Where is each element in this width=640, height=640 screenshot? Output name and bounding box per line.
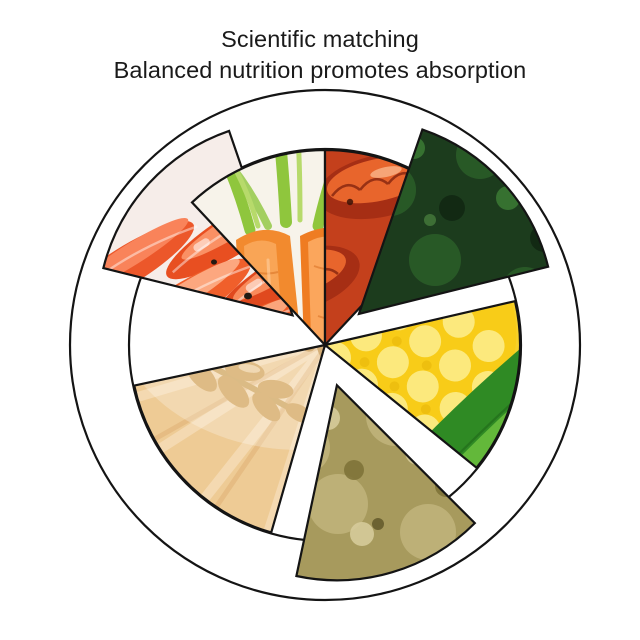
pie-slice-group (103, 130, 548, 581)
ingredient-wheel-chart (0, 0, 640, 640)
poster-canvas: Scientific matching Balanced nutrition p… (0, 0, 640, 640)
pie-slice-wheat[interactable] (134, 345, 325, 532)
